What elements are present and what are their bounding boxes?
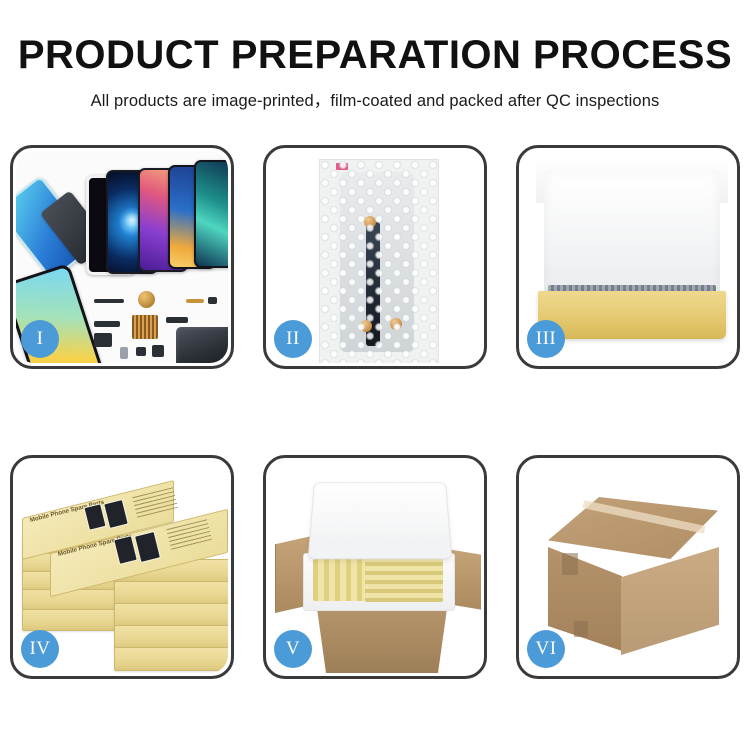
part-camera-module <box>94 333 112 347</box>
step-badge-2: II <box>274 320 312 358</box>
part-connector <box>208 297 217 304</box>
process-step-panel-3[interactable]: III <box>516 145 740 369</box>
bubble-texture-overlay <box>320 160 438 363</box>
part-antenna-strip <box>166 317 188 323</box>
foam-lid-open <box>308 482 453 559</box>
step-badge-3: III <box>527 320 565 358</box>
phone-screen-teal-swirl <box>194 160 228 268</box>
stacked-box-r5 <box>114 647 228 671</box>
part-flex-cable <box>94 321 120 327</box>
stacked-box-r4 <box>114 625 228 649</box>
bubble-wrap-bag <box>319 159 439 363</box>
process-step-panel-2[interactable]: II <box>263 145 487 369</box>
page-title: PRODUCT PREPARATION PROCESS <box>0 34 750 77</box>
page-subtitle: All products are image-printed，film-coat… <box>0 87 750 111</box>
carton-tape-tab-lower <box>574 621 588 637</box>
part-vibrator-coin <box>138 291 155 308</box>
process-step-panel-6[interactable]: VI <box>516 455 740 679</box>
part-logic-board <box>176 327 228 363</box>
stacked-box-l5 <box>22 609 128 631</box>
process-step-panel-5[interactable]: V <box>263 455 487 679</box>
part-sim-tray <box>120 347 128 359</box>
part-button-set <box>136 347 146 356</box>
process-step-panel-4[interactable]: Mobile Phone Spare Parts Mobile Phone Sp… <box>10 455 234 679</box>
spare-parts-group <box>94 291 228 363</box>
part-earpiece <box>152 345 164 357</box>
part-screw-2 <box>220 361 225 363</box>
yellow-tray-box <box>538 291 726 339</box>
carton-tape-tab-upper <box>562 553 578 575</box>
stacked-box-r3 <box>114 603 228 627</box>
stacked-box-l4 <box>22 589 128 611</box>
step-badge-1: I <box>21 320 59 358</box>
part-chip-array <box>132 315 158 339</box>
process-step-panel-1[interactable]: I <box>10 145 234 369</box>
part-speaker-mesh <box>94 299 124 303</box>
page-header: PRODUCT PREPARATION PROCESS All products… <box>0 0 750 111</box>
foam-sheet <box>544 171 720 301</box>
step-badge-4: IV <box>21 630 59 668</box>
yellow-boxes-right <box>365 558 443 602</box>
part-gold-flex <box>186 299 204 303</box>
process-step-grid: I II III <box>10 145 740 679</box>
step-badge-6: VI <box>527 630 565 668</box>
stacked-box-r2 <box>114 581 228 605</box>
step-badge-5: V <box>274 630 312 668</box>
